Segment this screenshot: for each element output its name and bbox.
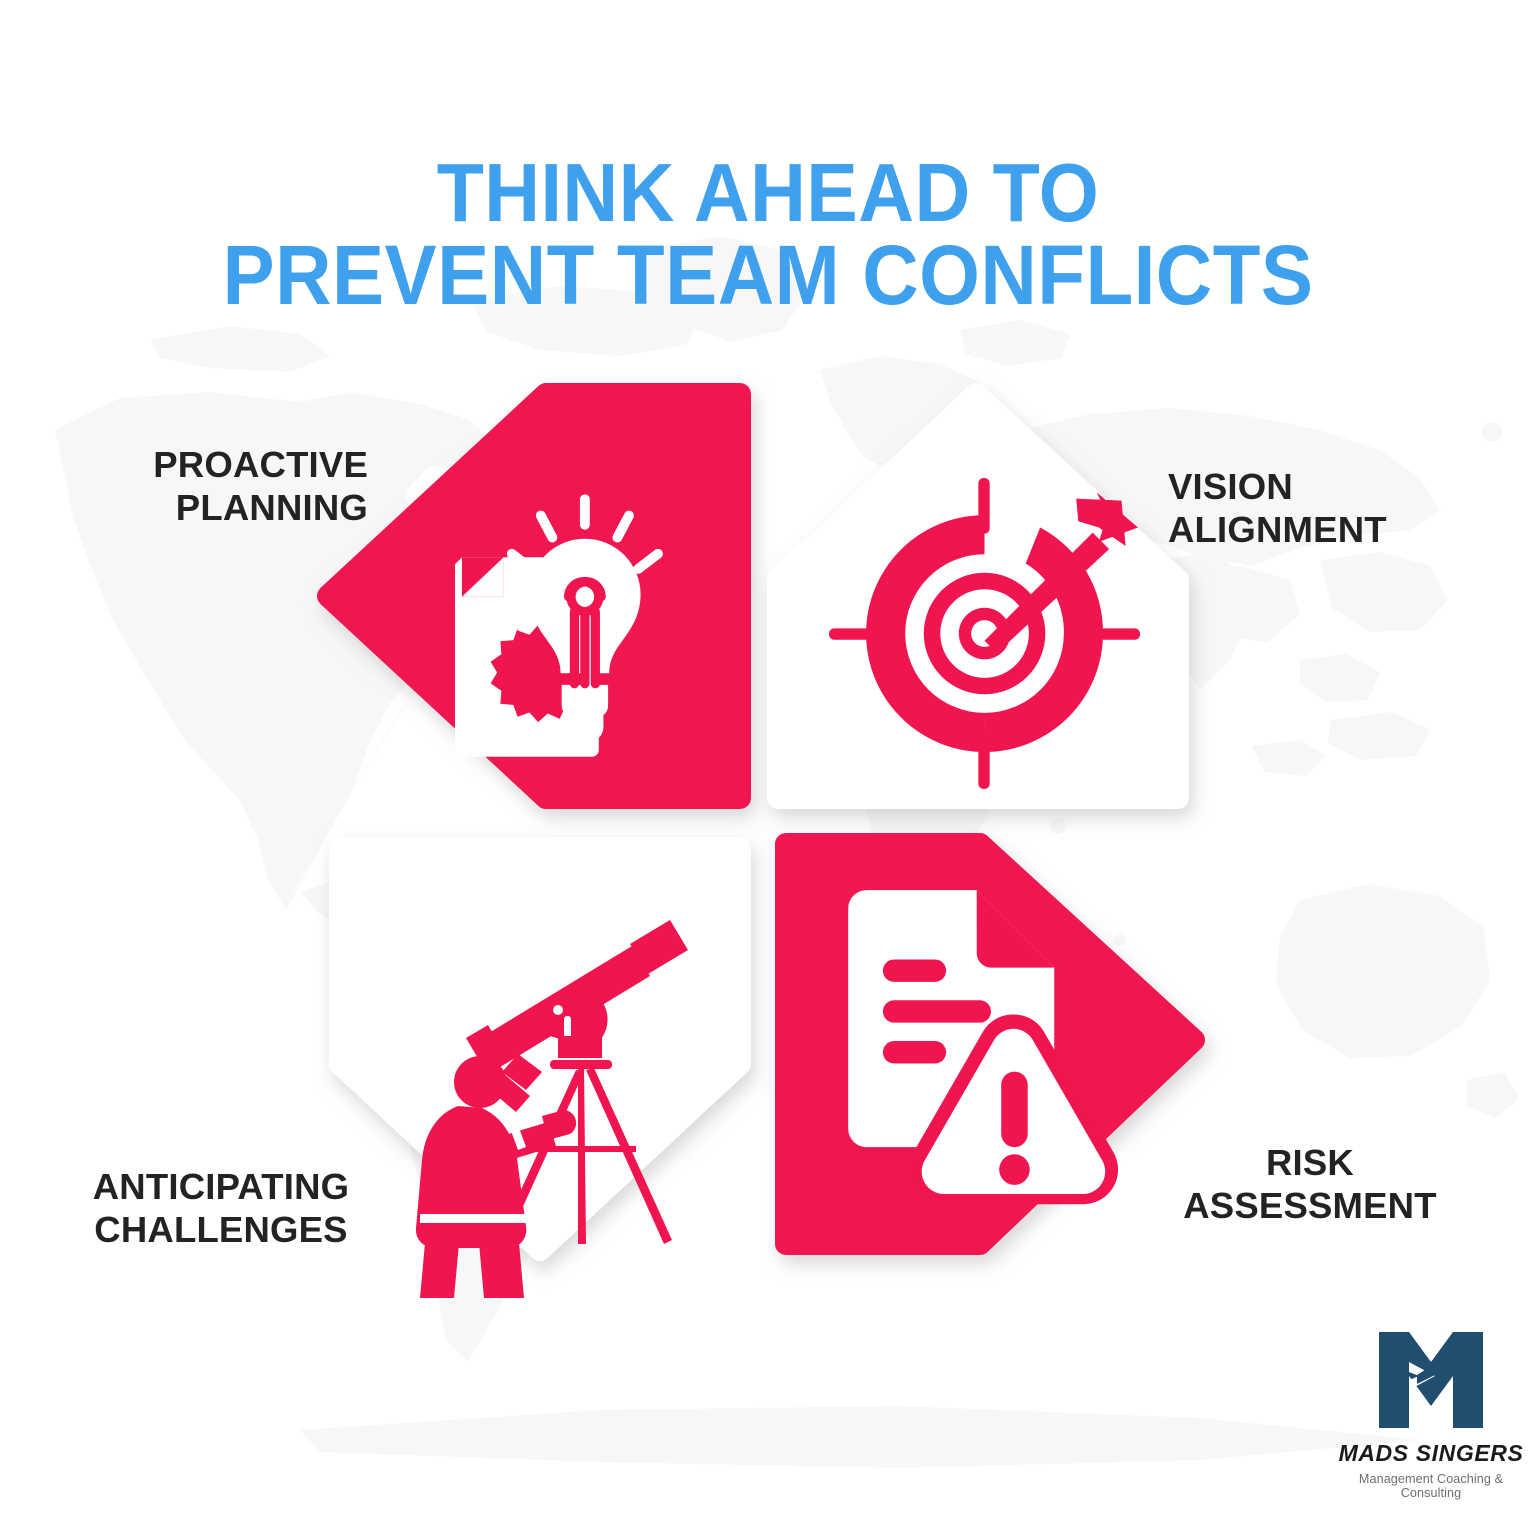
label-anticipating-challenges-line2: CHALLENGES bbox=[6, 1209, 436, 1252]
label-proactive-planning-line2: PLANNING bbox=[10, 487, 368, 530]
title-line-2: PREVENT TEAM CONFLICTS bbox=[54, 234, 1482, 317]
label-risk-assessment-line1: RISK bbox=[1100, 1142, 1520, 1185]
quadrant-vision-alignment[interactable] bbox=[766, 386, 1196, 806]
brand-tagline: Management Coaching & Consulting bbox=[1338, 1472, 1524, 1500]
label-risk-assessment-line2: ASSESSMENT bbox=[1100, 1185, 1520, 1228]
label-risk-assessment: RISK ASSESSMENT bbox=[1100, 1142, 1520, 1227]
mads-singers-monogram-icon bbox=[1338, 1330, 1524, 1430]
page-title: THINK AHEAD TO PREVENT TEAM CONFLICTS bbox=[0, 152, 1536, 317]
pinwheel-diagram bbox=[318, 386, 1218, 1276]
label-anticipating-challenges: ANTICIPATING CHALLENGES bbox=[6, 1166, 436, 1251]
label-anticipating-challenges-line1: ANTICIPATING bbox=[6, 1166, 436, 1209]
label-vision-alignment-line1: VISION bbox=[1168, 466, 1528, 509]
label-proactive-planning-line1: PROACTIVE bbox=[10, 444, 368, 487]
label-proactive-planning: PROACTIVE PLANNING bbox=[10, 444, 368, 529]
title-line-1: THINK AHEAD TO bbox=[54, 152, 1482, 234]
brand-name: MADS SINGERS bbox=[1338, 1440, 1524, 1467]
label-vision-alignment-line2: ALIGNMENT bbox=[1168, 509, 1528, 552]
quadrant-proactive-planning[interactable] bbox=[318, 386, 748, 806]
label-vision-alignment: VISION ALIGNMENT bbox=[1168, 466, 1528, 551]
brand-logo: MADS SINGERS Management Coaching & Consu… bbox=[1338, 1330, 1524, 1500]
